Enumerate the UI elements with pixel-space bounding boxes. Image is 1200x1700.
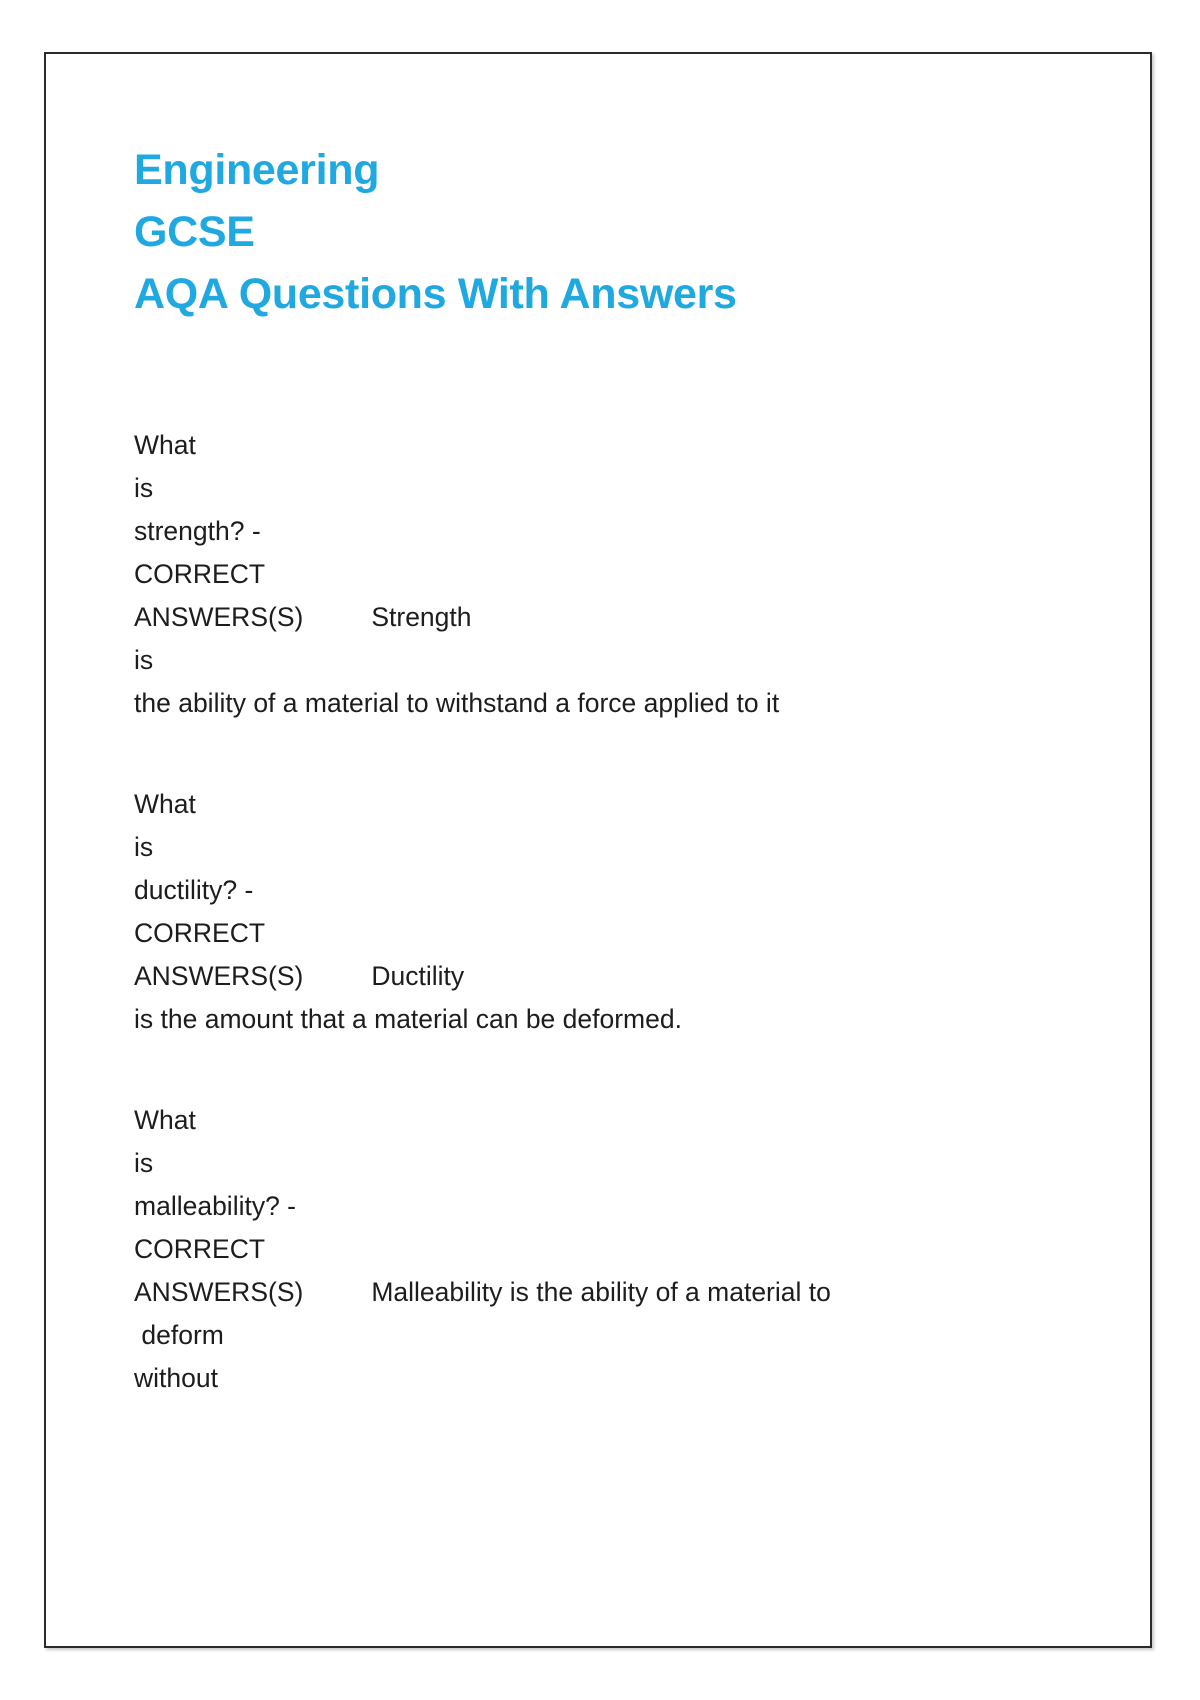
answer-line: ANSWERS(S)Ductility: [134, 955, 1094, 998]
qa-block-ductility: What is ductility? - CORRECT ANSWERS(S)D…: [134, 783, 1094, 1041]
answer-tail-line: is: [134, 639, 1094, 682]
answer-label: ANSWERS(S): [134, 955, 303, 998]
answer-label: ANSWERS(S): [134, 1271, 303, 1314]
qa-content: What is strength? - CORRECT ANSWERS(S)St…: [134, 424, 1094, 1400]
question-line: What: [134, 1099, 1094, 1142]
question-line: CORRECT: [134, 553, 1094, 596]
qa-block-strength: What is strength? - CORRECT ANSWERS(S)St…: [134, 424, 1094, 725]
question-line: strength? -: [134, 510, 1094, 553]
question-line: CORRECT: [134, 912, 1094, 955]
page-title: Engineering GCSE AQA Questions With Answ…: [134, 139, 1074, 325]
question-line: ductility? -: [134, 869, 1094, 912]
answer-line: ANSWERS(S)Strength: [134, 596, 1094, 639]
title-line-1: Engineering: [134, 139, 1074, 201]
document-page: Engineering GCSE AQA Questions With Answ…: [44, 52, 1152, 1648]
qa-block-malleability: What is malleability? - CORRECT ANSWERS(…: [134, 1099, 1094, 1400]
answer-tail-line: deform: [134, 1314, 1094, 1357]
question-line: is: [134, 826, 1094, 869]
question-line: CORRECT: [134, 1228, 1094, 1271]
question-line: What: [134, 424, 1094, 467]
page-content: Engineering GCSE AQA Questions With Answ…: [46, 54, 1150, 1646]
title-line-3: AQA Questions With Answers: [134, 263, 1074, 325]
answer-tail-line: the ability of a material to withstand a…: [134, 682, 1094, 725]
answer-line: ANSWERS(S)Malleability is the ability of…: [134, 1271, 1094, 1314]
answer-tail-line: without: [134, 1357, 1094, 1400]
question-line: malleability? -: [134, 1185, 1094, 1228]
question-line: is: [134, 1142, 1094, 1185]
answer-value: Malleability is the ability of a materia…: [303, 1271, 831, 1314]
title-line-2: GCSE: [134, 201, 1074, 263]
answer-value: Strength: [303, 596, 471, 639]
question-line: What: [134, 783, 1094, 826]
question-line: is: [134, 467, 1094, 510]
answer-value: Ductility: [303, 955, 464, 998]
answer-tail-line: is the amount that a material can be def…: [134, 998, 1094, 1041]
answer-label: ANSWERS(S): [134, 596, 303, 639]
